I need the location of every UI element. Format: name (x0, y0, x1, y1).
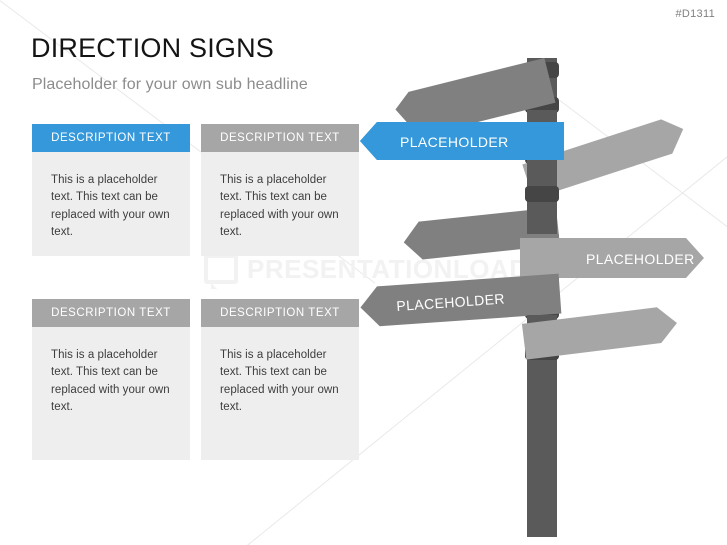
sign-right-label: PLACEHOLDER (586, 251, 695, 267)
sign-blue-left[interactable]: PLACEHOLDER (360, 122, 564, 160)
description-card[interactable]: DESCRIPTION TEXT This is a placeholder t… (201, 124, 359, 256)
description-card[interactable]: DESCRIPTION TEXT This is a placeholder t… (32, 124, 190, 256)
card-header: DESCRIPTION TEXT (32, 299, 190, 327)
speech-bubble-icon (204, 254, 238, 284)
card-body-text: This is a placeholder text. This text ca… (201, 152, 359, 242)
pole-segment (527, 160, 557, 190)
collar (525, 186, 559, 202)
description-card[interactable]: DESCRIPTION TEXT This is a placeholder t… (32, 299, 190, 460)
card-header: DESCRIPTION TEXT (201, 124, 359, 152)
sign-blue-left-label: PLACEHOLDER (400, 134, 509, 150)
card-body-text: This is a placeholder text. This text ca… (201, 327, 359, 417)
description-card[interactable]: DESCRIPTION TEXT This is a placeholder t… (201, 299, 359, 460)
card-body-text: This is a placeholder text. This text ca… (32, 152, 190, 242)
pole-lower (527, 360, 557, 537)
page-subtitle: Placeholder for your own sub headline (32, 76, 308, 94)
page-title: DIRECTION SIGNS (31, 34, 274, 64)
card-body-text: This is a placeholder text. This text ca… (32, 327, 190, 417)
pole-segment (527, 206, 557, 234)
sign-right[interactable]: PLACEHOLDER (520, 238, 704, 278)
signpost-illustration: PLACEHOLDER PLACEHOLDER PLACEHOLDER (360, 0, 727, 545)
card-header: DESCRIPTION TEXT (32, 124, 190, 152)
slide-canvas: PRESENTATIONLOAD #D1311 DIRECTION SIGNS … (0, 0, 727, 545)
card-header: DESCRIPTION TEXT (201, 299, 359, 327)
